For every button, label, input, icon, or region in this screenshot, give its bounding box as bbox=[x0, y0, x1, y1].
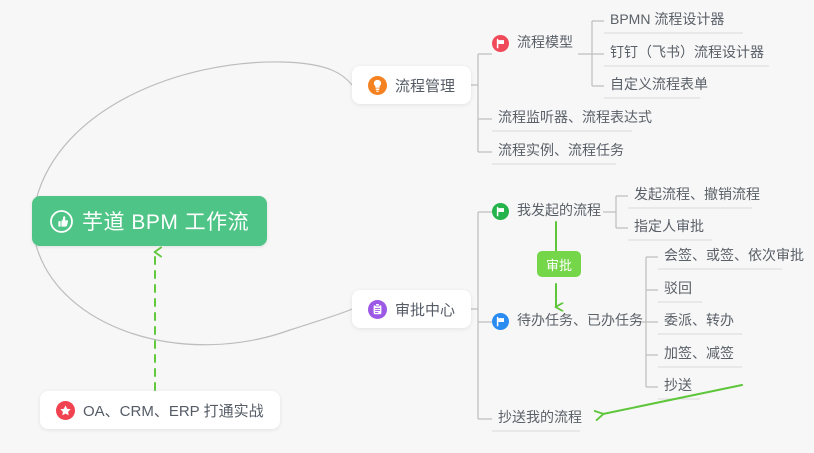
node-dingtalk-feishu-designer[interactable]: 钉钉（飞书）流程设计器 bbox=[604, 42, 770, 66]
node-assignee-approval-label: 指定人审批 bbox=[634, 216, 704, 236]
flag-red-icon bbox=[492, 35, 509, 52]
lightbulb-icon bbox=[368, 76, 387, 95]
node-process-listener-expression[interactable]: 流程监听器、流程表达式 bbox=[492, 107, 658, 131]
star-icon bbox=[56, 401, 75, 420]
node-bpmn-designer[interactable]: BPMN 流程设计器 bbox=[604, 9, 730, 33]
node-countersign-orsign-sequential[interactable]: 会签、或签、依次审批 bbox=[658, 245, 810, 269]
node-approval-center[interactable]: 审批中心 bbox=[352, 290, 471, 328]
thumbs-up-icon bbox=[50, 210, 73, 233]
node-custom-process-form[interactable]: 自定义流程表单 bbox=[604, 74, 714, 98]
node-process-instance-task[interactable]: 流程实例、流程任务 bbox=[492, 140, 630, 164]
node-carbon-copy-label: 抄送 bbox=[664, 375, 692, 395]
node-my-initiated-process[interactable]: 我发起的流程 bbox=[492, 200, 607, 224]
root-label: 芋道 BPM 工作流 bbox=[82, 206, 249, 236]
node-reject[interactable]: 驳回 bbox=[658, 278, 698, 302]
node-delegate-transfer[interactable]: 委派、转办 bbox=[658, 310, 740, 334]
wire-root-to-process-management bbox=[36, 62, 352, 200]
approval-chip-label: 审批 bbox=[546, 255, 572, 274]
node-todo-done-tasks-label: 待办任务、已办任务 bbox=[517, 310, 643, 330]
node-process-management-label: 流程管理 bbox=[395, 75, 455, 96]
node-countersign-orsign-sequential-label: 会签、或签、依次审批 bbox=[664, 245, 804, 265]
node-approval-center-label: 审批中心 bbox=[395, 299, 455, 320]
node-integration-note-label: OA、CRM、ERP 打通实战 bbox=[83, 400, 264, 421]
node-process-instance-task-label: 流程实例、流程任务 bbox=[498, 140, 624, 160]
node-process-model[interactable]: 流程模型 bbox=[492, 32, 579, 56]
node-start-cancel-process[interactable]: 发起流程、撤销流程 bbox=[628, 184, 766, 208]
node-reject-label: 驳回 bbox=[664, 278, 692, 298]
node-carbon-copy[interactable]: 抄送 bbox=[658, 375, 698, 399]
clipboard-icon bbox=[368, 300, 387, 319]
node-assignee-approval[interactable]: 指定人审批 bbox=[628, 216, 710, 240]
mindmap-canvas: 芋道 BPM 工作流 流程管理 流程模型 BPMN 流程设计器 钉钉（飞书）流程 bbox=[0, 0, 814, 453]
node-integration-note[interactable]: OA、CRM、ERP 打通实战 bbox=[40, 391, 280, 429]
node-dingtalk-feishu-designer-label: 钉钉（飞书）流程设计器 bbox=[610, 42, 764, 62]
node-my-initiated-process-label: 我发起的流程 bbox=[517, 200, 601, 220]
node-bpmn-designer-label: BPMN 流程设计器 bbox=[610, 9, 724, 29]
node-cc-to-me-process[interactable]: 抄送我的流程 bbox=[492, 407, 588, 431]
approval-chip[interactable]: 审批 bbox=[537, 251, 581, 277]
node-process-model-label: 流程模型 bbox=[517, 32, 573, 52]
node-custom-process-form-label: 自定义流程表单 bbox=[610, 74, 708, 94]
node-process-management[interactable]: 流程管理 bbox=[352, 66, 471, 104]
flag-green-icon bbox=[492, 203, 509, 220]
node-delegate-transfer-label: 委派、转办 bbox=[664, 310, 734, 330]
root-node[interactable]: 芋道 BPM 工作流 bbox=[32, 196, 267, 246]
node-add-remove-sign-label: 加签、减签 bbox=[664, 343, 734, 363]
wire-root-to-approval-center bbox=[36, 245, 352, 345]
node-process-listener-expression-label: 流程监听器、流程表达式 bbox=[498, 107, 652, 127]
node-start-cancel-process-label: 发起流程、撤销流程 bbox=[634, 184, 760, 204]
node-add-remove-sign[interactable]: 加签、减签 bbox=[658, 343, 740, 367]
flag-blue-icon bbox=[492, 313, 509, 330]
node-todo-done-tasks[interactable]: 待办任务、已办任务 bbox=[492, 310, 649, 334]
node-cc-to-me-process-label: 抄送我的流程 bbox=[498, 407, 582, 427]
